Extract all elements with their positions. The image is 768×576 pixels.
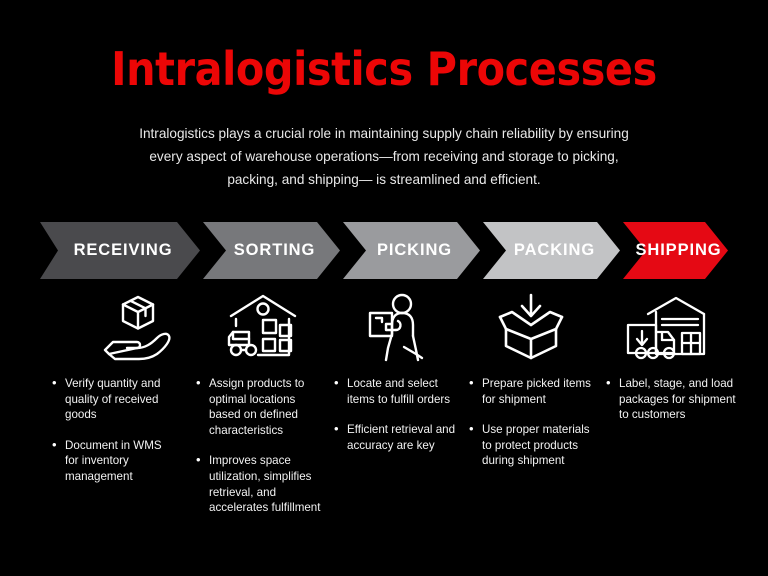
chevron-step-picking[interactable]: PICKING xyxy=(343,222,480,279)
bullet-column-picking: Locate and select items to fulfill order… xyxy=(334,376,459,468)
list-item: Verify quantity and quality of received … xyxy=(52,376,174,423)
worker-carrying-box-icon xyxy=(360,292,434,362)
chevron-label-packing: PACKING xyxy=(508,241,595,260)
bullet-column-receiving: Verify quantity and quality of received … xyxy=(52,376,174,500)
chevron-label-sorting: SORTING xyxy=(228,241,315,260)
process-detail-columns: Verify quantity and quality of received … xyxy=(44,376,756,566)
list-item: Assign products to optimal locations bas… xyxy=(196,376,324,438)
chevron-step-receiving[interactable]: RECEIVING xyxy=(40,222,200,279)
chevron-label-receiving: RECEIVING xyxy=(68,241,173,260)
icon-cell-shipping xyxy=(602,286,732,368)
bullet-list-picking: Locate and select items to fulfill order… xyxy=(334,376,459,453)
open-box-arrow-icon xyxy=(494,292,568,362)
list-item: Locate and select items to fulfill order… xyxy=(334,376,459,407)
chevron-step-shipping[interactable]: SHIPPING xyxy=(623,222,728,279)
bullet-column-shipping: Label, stage, and load packages for ship… xyxy=(606,376,738,438)
chevron-step-packing[interactable]: PACKING xyxy=(483,222,620,279)
page-title: Intralogistics Processes xyxy=(0,42,768,96)
icon-cell-packing xyxy=(471,286,591,368)
bullet-list-shipping: Label, stage, and load packages for ship… xyxy=(606,376,738,423)
list-item: Document in WMS for inventory management xyxy=(52,438,174,485)
chevron-label-shipping: SHIPPING xyxy=(629,241,721,260)
list-item: Prepare picked items for shipment xyxy=(469,376,594,407)
icon-cell-picking xyxy=(337,286,457,368)
process-icon-row xyxy=(40,286,728,368)
bullet-list-packing: Prepare picked items for shipment Use pr… xyxy=(469,376,594,469)
infographic-canvas: Intralogistics Processes Intralogistics … xyxy=(0,0,768,576)
icon-cell-sorting xyxy=(202,286,322,368)
bullet-column-packing: Prepare picked items for shipment Use pr… xyxy=(469,376,594,484)
list-item: Efficient retrieval and accuracy are key xyxy=(334,422,459,453)
bullet-list-sorting: Assign products to optimal locations bas… xyxy=(196,376,324,516)
delivery-truck-warehouse-icon xyxy=(624,292,710,362)
list-item: Use proper materials to protect products… xyxy=(469,422,594,469)
process-chevron-band: RECEIVING SORTING PICKING PACKING SHIPPI xyxy=(40,222,728,279)
chevron-label-picking: PICKING xyxy=(371,241,452,260)
bullet-list-receiving: Verify quantity and quality of received … xyxy=(52,376,174,485)
bullet-column-sorting: Assign products to optimal locations bas… xyxy=(196,376,324,531)
hand-holding-box-icon xyxy=(101,292,175,362)
page-subtitle: Intralogistics plays a crucial role in m… xyxy=(134,122,634,191)
list-item: Label, stage, and load packages for ship… xyxy=(606,376,738,423)
icon-cell-receiving xyxy=(78,286,198,368)
warehouse-forklift-icon xyxy=(225,292,299,362)
list-item: Improves space utilization, simplifies r… xyxy=(196,453,324,515)
chevron-step-sorting[interactable]: SORTING xyxy=(203,222,340,279)
